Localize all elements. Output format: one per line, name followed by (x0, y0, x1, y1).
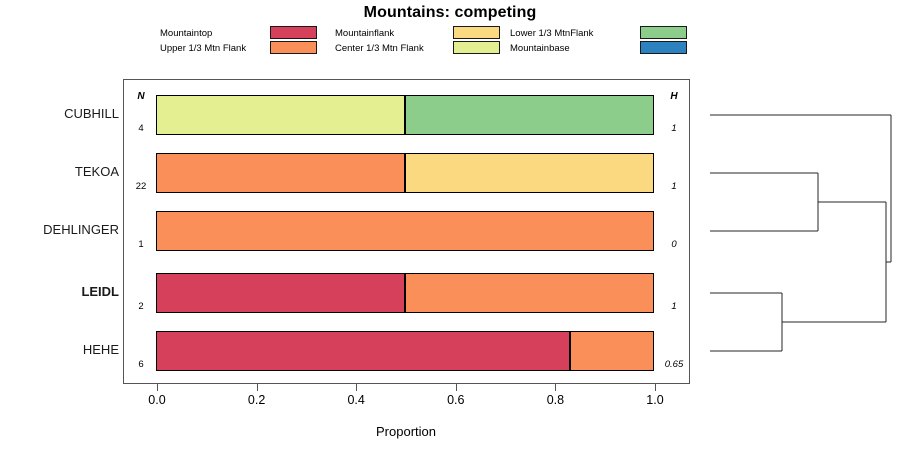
bar-segment (156, 153, 405, 193)
page-title: Mountains: competing (0, 4, 900, 22)
bar-segment (405, 95, 654, 135)
legend-entry-upper-third-mtn-flank: Upper 1/3 Mtn Flank (160, 41, 335, 56)
taxa-label-column: CUBHILLTEKOADEHLINGERLEIDLHEHE (5, 79, 119, 384)
x-axis: 0.00.20.40.60.81.0 (157, 384, 655, 424)
legend-entry-center-third-mtn-flank: Center 1/3 Mtn Flank (335, 41, 510, 56)
stacked-bars-layer (157, 79, 655, 384)
h-value: 0.65 (658, 359, 690, 370)
chart-canvas: Mountains: competing Mountaintop Upper 1… (0, 0, 900, 460)
n-value: 2 (128, 301, 154, 312)
bar-row (157, 211, 655, 251)
bar-segment (156, 211, 654, 251)
legend-swatch-lower-third-mtn-flank (640, 26, 687, 39)
x-axis-tick-label: 0.6 (436, 393, 476, 407)
bar-segment (570, 331, 655, 371)
x-axis-tick-label: 0.0 (137, 393, 177, 407)
x-axis-tick (157, 384, 158, 391)
legend-entry-mountainflank: Mountainflank (335, 26, 510, 41)
h-value: 1 (658, 301, 690, 312)
h-column: H 11010.65 (658, 79, 692, 384)
x-axis-tick (456, 384, 457, 391)
x-axis-tick-label: 0.8 (535, 393, 575, 407)
legend-swatch-mountaintop (270, 26, 317, 39)
n-value: 6 (128, 359, 154, 370)
legend-column-2: Mountainflank Center 1/3 Mtn Flank (335, 26, 510, 56)
bar-row (157, 95, 655, 135)
bar-row (157, 153, 655, 193)
legend-label-mountainbase: Mountainbase (510, 41, 570, 56)
h-value: 1 (658, 123, 690, 134)
h-column-header: H (658, 91, 690, 102)
bar-segment (405, 273, 654, 313)
n-value: 1 (128, 239, 154, 250)
n-column: N 422126 (128, 79, 156, 384)
h-value: 1 (658, 181, 690, 192)
h-value: 0 (658, 239, 690, 250)
legend-entry-mountaintop: Mountaintop (160, 26, 335, 41)
n-column-header: N (128, 91, 154, 102)
taxon-label: TEKOA (9, 164, 119, 179)
bar-segment (156, 95, 405, 135)
legend-swatch-center-third-mtn-flank (453, 41, 500, 54)
x-axis-tick (356, 384, 357, 391)
bar-segment (156, 273, 405, 313)
bar-segment (156, 331, 569, 371)
legend-swatch-upper-third-mtn-flank (270, 41, 317, 54)
bar-row (157, 273, 655, 313)
x-axis-tick-label: 0.4 (336, 393, 376, 407)
legend-column-1: Mountaintop Upper 1/3 Mtn Flank (160, 26, 335, 56)
n-value: 4 (128, 123, 154, 134)
legend-label-upper-third-mtn-flank: Upper 1/3 Mtn Flank (160, 41, 246, 56)
dendrogram-svg (700, 79, 900, 384)
legend-entry-mountainbase: Mountainbase (510, 41, 690, 56)
dendrogram (700, 79, 900, 384)
legend-swatch-mountainflank (453, 26, 500, 39)
x-axis-tick-label: 1.0 (635, 393, 675, 407)
taxon-label: DEHLINGER (9, 222, 119, 237)
bar-row (157, 331, 655, 371)
taxon-label: LEIDL (9, 284, 119, 299)
legend-entry-lower-third-mtn-flank: Lower 1/3 MtnFlank (510, 26, 690, 41)
x-axis-tick (257, 384, 258, 391)
bar-segment (405, 153, 654, 193)
legend-label-mountainflank: Mountainflank (335, 26, 394, 41)
x-axis-tick-label: 0.2 (237, 393, 277, 407)
legend-swatch-mountainbase (640, 41, 687, 54)
legend-column-3: Lower 1/3 MtnFlank Mountainbase (510, 26, 690, 56)
taxon-label: CUBHILL (9, 106, 119, 121)
n-value: 22 (128, 181, 154, 192)
x-axis-tick (555, 384, 556, 391)
legend-label-mountaintop: Mountaintop (160, 26, 212, 41)
taxon-label: HEHE (9, 342, 119, 357)
legend: Mountaintop Upper 1/3 Mtn Flank Mountain… (160, 26, 690, 56)
x-axis-tick (655, 384, 656, 391)
x-axis-title: Proportion (157, 424, 655, 439)
legend-label-center-third-mtn-flank: Center 1/3 Mtn Flank (335, 41, 424, 56)
legend-label-lower-third-mtn-flank: Lower 1/3 MtnFlank (510, 26, 593, 41)
